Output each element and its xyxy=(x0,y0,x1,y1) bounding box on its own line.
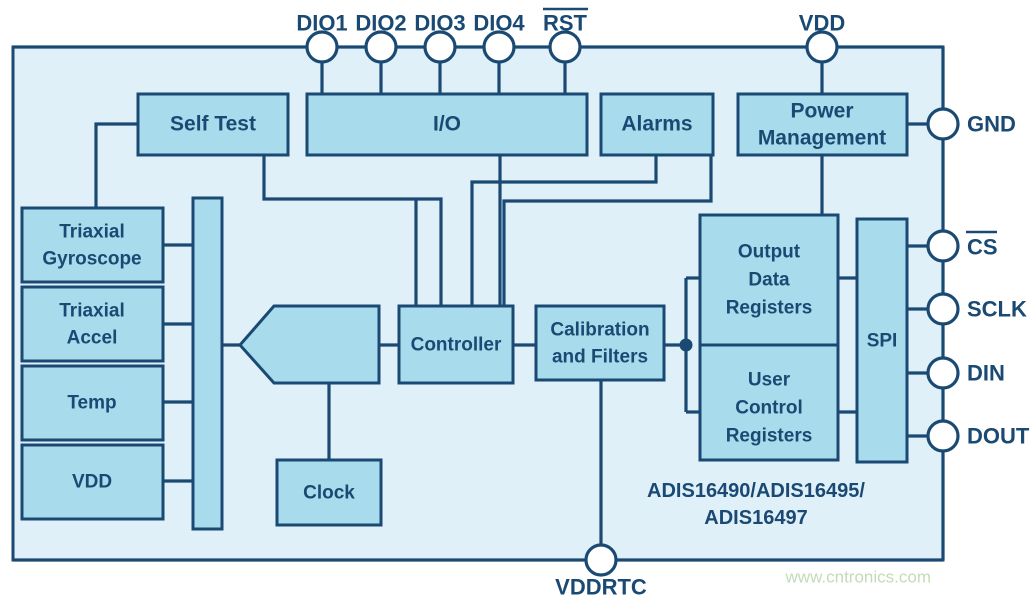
block-label-ucr-2: Control xyxy=(735,398,803,419)
functional-block-diagram: Self Test I/O Alarms Power Management xyxy=(0,0,1031,598)
part-number-line-1: ADIS16490/ADIS16495/ xyxy=(647,480,865,502)
block-diagram-canvas: Self Test I/O Alarms Power Management xyxy=(0,0,1031,598)
block-label-power-management-1: Power xyxy=(790,100,853,123)
block-label-controller: Controller xyxy=(411,335,502,356)
block-controller[interactable]: Controller xyxy=(399,306,513,383)
pin-label-dio4: DIO4 xyxy=(473,11,525,36)
pin-label-cs: CS xyxy=(967,235,998,260)
pin-label-dio1: DIO1 xyxy=(296,11,347,36)
block-calibration-filters[interactable]: Calibration and Filters xyxy=(536,306,664,380)
block-label-ucr-1: User xyxy=(748,370,791,391)
block-clock[interactable]: Clock xyxy=(277,460,381,525)
block-label-alarms: Alarms xyxy=(621,113,692,136)
block-alarms[interactable]: Alarms xyxy=(601,94,713,155)
pin-circle-vdd[interactable] xyxy=(807,32,837,62)
junction-dot-registers xyxy=(680,339,693,352)
block-triaxial-accel[interactable]: Triaxial Accel xyxy=(22,287,163,361)
pin-label-din: DIN xyxy=(967,361,1005,386)
pin-circle-cs[interactable] xyxy=(928,231,958,261)
pin-circle-sclk[interactable] xyxy=(928,294,958,324)
block-label-temp: Temp xyxy=(67,393,116,414)
block-spi[interactable]: SPI xyxy=(857,219,907,462)
pin-label-dio2: DIO2 xyxy=(355,11,406,36)
pin-label-vdd: VDD xyxy=(799,11,845,36)
pin-circle-dio3[interactable] xyxy=(425,32,455,62)
block-label-odr-2: Data xyxy=(748,270,790,291)
block-label-calibration-1: Calibration xyxy=(550,320,649,341)
block-label-ucr-3: Registers xyxy=(726,426,813,447)
block-io[interactable]: I/O xyxy=(307,94,587,155)
block-power-management[interactable]: Power Management xyxy=(738,94,907,155)
pin-circle-dio4[interactable] xyxy=(484,32,514,62)
block-label-gyro-1: Triaxial xyxy=(59,222,125,243)
pin-label-rst: RST xyxy=(543,11,588,36)
pin-circle-gnd[interactable] xyxy=(928,109,958,139)
block-label-accel-1: Triaxial xyxy=(59,301,125,322)
pin-circle-vddrtc[interactable] xyxy=(586,545,616,575)
block-label-power-management-2: Management xyxy=(758,127,886,150)
pin-label-sclk: SCLK xyxy=(967,297,1027,322)
pin-label-dio3: DIO3 xyxy=(414,11,465,36)
block-self-test[interactable]: Self Test xyxy=(138,94,288,155)
part-number-line-2: ADIS16497 xyxy=(704,507,807,529)
pin-label-gnd: GND xyxy=(967,112,1016,137)
watermark-text: www.cntronics.com xyxy=(785,568,931,587)
block-vdd-sensor[interactable]: VDD xyxy=(22,445,163,519)
block-label-vdd-sensor: VDD xyxy=(72,472,112,493)
block-temp[interactable]: Temp xyxy=(22,366,163,440)
pin-circle-rst[interactable] xyxy=(550,32,580,62)
block-label-gyro-2: Gyroscope xyxy=(42,249,141,270)
block-label-clock: Clock xyxy=(303,483,355,504)
pin-circle-dio1[interactable] xyxy=(307,32,337,62)
block-label-self-test: Self Test xyxy=(170,113,256,136)
pin-label-dout: DOUT xyxy=(967,424,1030,449)
block-label-accel-2: Accel xyxy=(67,328,118,349)
block-triaxial-gyroscope[interactable]: Triaxial Gyroscope xyxy=(22,208,163,282)
block-label-odr-1: Output xyxy=(738,242,801,263)
pin-label-vddrtc: VDDRTC xyxy=(555,575,647,598)
block-sensor-bus xyxy=(193,198,222,529)
block-label-calibration-2: and Filters xyxy=(552,347,648,368)
block-label-odr-3: Registers xyxy=(726,298,813,319)
pin-circle-din[interactable] xyxy=(928,358,958,388)
block-label-spi: SPI xyxy=(867,331,898,352)
pin-circle-dio2[interactable] xyxy=(366,32,396,62)
pin-circle-dout[interactable] xyxy=(928,421,958,451)
block-label-io: I/O xyxy=(433,113,461,136)
